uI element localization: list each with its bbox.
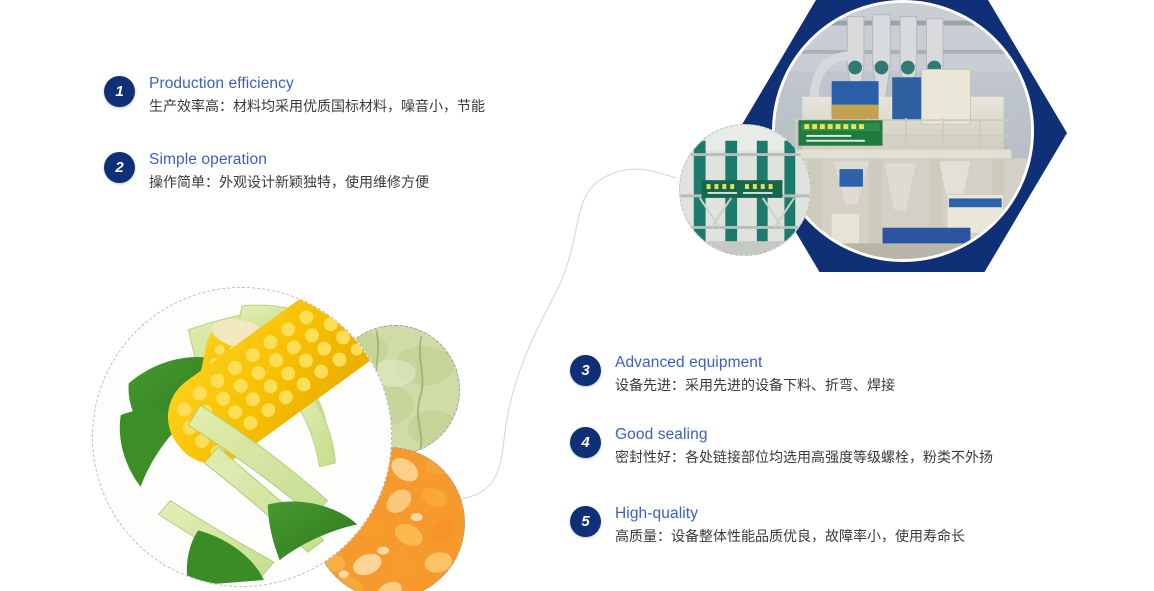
feature-item-3[interactable]: 3 Advanced equipment 设备先进：采用先进的设备下料、折弯、焊… (570, 353, 895, 396)
feature-item-1[interactable]: 1 Production efficiency 生产效率高：材料均采用优质国标材… (104, 74, 485, 117)
feature-description: 密封性好：各处链接部位均选用高强度等级螺栓，粉类不外扬 (615, 447, 993, 468)
feature-text-block: Production efficiency 生产效率高：材料均采用优质国标材料，… (149, 74, 485, 117)
feature-title: Production efficiency (149, 74, 485, 94)
corn-cob-photo (92, 287, 392, 587)
feature-title: Simple operation (149, 150, 429, 170)
feature-text-block: Good sealing 密封性好：各处链接部位均选用高强度等级螺栓，粉类不外扬 (615, 425, 993, 468)
feature-description: 设备先进：采用先进的设备下料、折弯、焊接 (615, 375, 895, 396)
feature-description: 操作简单：外观设计新颖独特，使用维修方便 (149, 172, 429, 193)
feature-text-block: Advanced equipment 设备先进：采用先进的设备下料、折弯、焊接 (615, 353, 895, 396)
green-milling-plant-photo (679, 124, 811, 256)
feature-title: Advanced equipment (615, 353, 895, 373)
flour-milling-plant-photo (772, 0, 1034, 262)
feature-title: High-quality (615, 504, 965, 524)
feature-number-badge: 1 (104, 76, 135, 107)
feature-number-badge: 3 (570, 355, 601, 386)
feature-item-2[interactable]: 2 Simple operation 操作简单：外观设计新颖独特，使用维修方便 (104, 150, 429, 193)
feature-title: Good sealing (615, 425, 993, 445)
feature-description: 生产效率高：材料均采用优质国标材料，噪音小，节能 (149, 96, 485, 117)
feature-item-4[interactable]: 4 Good sealing 密封性好：各处链接部位均选用高强度等级螺栓，粉类不… (570, 425, 993, 468)
feature-text-block: High-quality 高质量：设备整体性能品质优良，故障率小，使用寿命长 (615, 504, 965, 547)
feature-number-badge: 4 (570, 427, 601, 458)
feature-text-block: Simple operation 操作简单：外观设计新颖独特，使用维修方便 (149, 150, 429, 193)
feature-description: 高质量：设备整体性能品质优良，故障率小，使用寿命长 (615, 526, 965, 547)
feature-number-badge: 2 (104, 152, 135, 183)
feature-number-badge: 5 (570, 506, 601, 537)
infographic-stage: 1 Production efficiency 生产效率高：材料均采用优质国标材… (0, 0, 1154, 591)
feature-item-5[interactable]: 5 High-quality 高质量：设备整体性能品质优良，故障率小，使用寿命长 (570, 504, 965, 547)
